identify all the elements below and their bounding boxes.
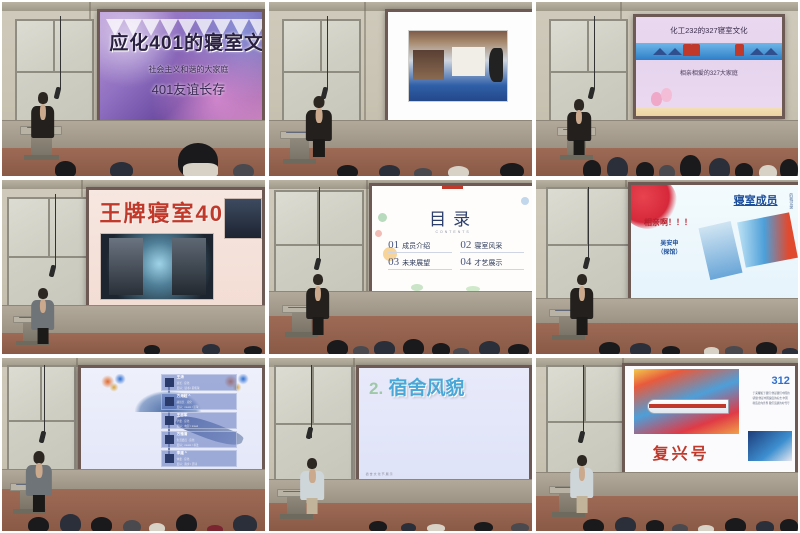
member-hobby: 爱好：电影 / travel: [177, 424, 198, 428]
microphone-wire: [583, 365, 584, 438]
audience-head: [615, 517, 636, 533]
presenter-head: [577, 274, 587, 285]
item-number: 04: [460, 256, 471, 268]
projection-screen: 王牌寝室407: [86, 187, 265, 312]
slide-footer: 宿舍文化节展示: [366, 472, 394, 476]
presenter-face: [309, 469, 315, 483]
projection-screen: 应化401的寝室文化 社会主义和谐的大家庭 401友谊长存: [97, 9, 265, 127]
slide-title: 寝室成员: [734, 192, 778, 208]
collage-panel-2[interactable]: 宿舍风貌展示: [267, 0, 534, 178]
audience-head: [448, 166, 469, 178]
audience-head: [500, 163, 524, 178]
slide-contents: 目录 CONTENTS 01 成员介绍 02 寝室风采 03 未来展望: [372, 186, 534, 295]
member-hobby: 爱好：读书 / 羽毛球: [177, 386, 200, 390]
slide-galaxy: 应化401的寝室文化 社会主义和谐的大家庭 401友谊长存: [100, 12, 262, 124]
slide-subtitle: 相亲相爱的327大家庭: [636, 68, 782, 77]
member-role: 体委 · 应化: [177, 457, 197, 461]
accent-bar: [442, 186, 463, 189]
audience-head: [756, 521, 774, 533]
house-icon: [668, 48, 682, 55]
train-artwork: [634, 369, 739, 434]
audience-head: [636, 162, 654, 178]
projection-screen: 王涛 班长 · 应化 爱好：读书 / 羽毛球 方海超 ^ 副班长 · 应化 爱好…: [78, 365, 265, 476]
slide-members: 寝室成员 相亲啊！！！ 吴安申 （探馆） 的我记录: [631, 185, 798, 301]
slide-title: 王牌寝室407: [100, 196, 239, 228]
slide-side-note: 的我记录: [788, 193, 794, 209]
audience-head: [144, 345, 160, 355]
item-label: 未来展望: [402, 258, 430, 268]
audience-head: [479, 341, 500, 356]
member-photo: [699, 221, 744, 280]
collage-panel-3[interactable]: 化工232的327寝室文化 相亲相爱的327大家庭: [534, 0, 800, 178]
member-hobby: 爱好：跑步 / 足球: [177, 462, 197, 466]
microphone-wire: [327, 16, 328, 89]
avatar: [165, 397, 174, 406]
slide-number: 2.: [369, 379, 383, 398]
slide-subtitle: CONTENTS: [372, 230, 534, 234]
red-flag-icon: [735, 44, 744, 56]
red-flag-icon: [683, 44, 692, 56]
contents-item: 03 未来展望: [388, 256, 452, 270]
collage-panel-5[interactable]: 目录 CONTENTS 01 成员介绍 02 寝室风采 03 未来展望: [267, 178, 534, 356]
microphone-wire: [594, 16, 595, 89]
slide-title-row: 2. 宿舍风貌: [369, 373, 464, 400]
presenter-face: [315, 286, 321, 301]
slide-body-text: 于荣耀属于我们 他是我们中国的骄傲 他是中国速度的标志 中国制造走向世界 我们追…: [753, 392, 790, 407]
audience-head: [759, 165, 777, 178]
audience-head: [403, 339, 424, 356]
member-role: 副班长 · 应化: [177, 400, 199, 404]
item-number: 03: [388, 256, 399, 268]
audience-head: [337, 165, 358, 178]
member-name: 方雅清: [177, 432, 199, 437]
audience-head: [176, 514, 197, 533]
audience-head: [244, 346, 262, 355]
presenter-face: [579, 286, 585, 301]
presenter-head: [307, 458, 317, 469]
slide-tagline: 401友谊长存: [152, 79, 226, 98]
member-name-note: （探馆）: [657, 250, 681, 256]
presenter: [26, 451, 52, 496]
collage-panel-8[interactable]: 2. 宿舍风貌 宿舍文化节展示: [267, 356, 534, 533]
presenter-head: [574, 99, 584, 110]
member-role: 班长 · 应化: [177, 381, 200, 385]
avatar: [165, 454, 174, 463]
slide-dorm-style: 2. 宿舍风貌 宿舍文化节展示: [359, 368, 529, 480]
pinboard: [452, 47, 485, 76]
whiteboard: [15, 19, 94, 127]
audience-head: [725, 518, 746, 533]
audience-head: [28, 517, 49, 533]
member-name: 王志军: [177, 413, 198, 418]
audience-head: [780, 159, 798, 178]
audience-head: [327, 340, 348, 356]
slide-407: 王牌寝室407: [89, 190, 262, 309]
presenter: [306, 96, 332, 141]
corridor-photo: [100, 233, 214, 300]
group-photo: [224, 198, 262, 239]
audience-head: [599, 342, 620, 356]
avatar: [165, 435, 174, 444]
room-number: 312: [772, 375, 790, 387]
audience-head: [91, 517, 112, 533]
item-label: 寝室风采: [474, 241, 502, 251]
presenter-face: [579, 466, 585, 481]
sand-strip: [636, 107, 782, 116]
member-row: 王涛 班长 · 应化 爱好：读书 / 羽毛球: [161, 374, 237, 391]
collage-panel-4[interactable]: 王牌寝室407: [0, 178, 267, 356]
collage-panel-6[interactable]: 寝室成员 相亲啊！！！ 吴安申 （探馆） 的我记录: [534, 178, 800, 356]
item-label: 才艺展示: [474, 258, 502, 268]
collage-panel-9[interactable]: 复兴号 312 于荣耀属于我们 他是我们中国的骄傲 他是中国速度的标志 中国制造…: [534, 356, 800, 533]
member-hobby: 爱好：music / 篮球: [177, 405, 199, 409]
audience: [536, 500, 798, 531]
avatar: [165, 416, 174, 425]
train-photo-thumbnail: [748, 431, 792, 461]
item-number: 01: [388, 239, 399, 251]
audience-head: [149, 523, 165, 533]
member-role: 学委 · 应化: [177, 419, 198, 423]
presenter-face: [40, 104, 46, 119]
presenter: [570, 455, 594, 498]
red-flag-icon: [691, 44, 700, 56]
contents-list: 01 成员介绍 02 寝室风采 03 未来展望 04 才艺展示: [388, 239, 524, 267]
audience-head: [183, 163, 217, 178]
projection-screen: 目录 CONTENTS 01 成员介绍 02 寝室风采 03 未来展望: [369, 183, 534, 298]
member-name-text: 吴安申: [660, 241, 678, 247]
house-icon: [750, 48, 764, 55]
audience-head: [735, 163, 753, 178]
collage-panel-7[interactable]: 王涛 班长 · 应化 爱好：读书 / 羽毛球 方海超 ^ 副班长 · 应化 爱好…: [0, 356, 267, 533]
member-name: 吴安申 （探馆）: [657, 240, 681, 258]
audience-head: [369, 521, 387, 533]
audience-head: [680, 155, 701, 178]
audience-head: [698, 525, 714, 533]
audience-head: [725, 346, 743, 355]
train-stripe: [649, 404, 727, 408]
audience: [536, 326, 798, 354]
audience-head: [453, 348, 469, 356]
audience-head: [659, 165, 675, 178]
balloon-icon: [661, 88, 672, 102]
audience-head: [583, 160, 601, 178]
slide-title: 目录: [372, 205, 534, 230]
microphone-wire: [44, 365, 45, 438]
item-number: 02: [460, 239, 471, 251]
audience-head: [233, 164, 254, 178]
audience-head: [123, 520, 141, 533]
audience-head: [60, 514, 81, 533]
audience-head: [583, 519, 604, 533]
audience-head: [401, 523, 417, 533]
member-row: 王志军 学委 · 应化 爱好：电影 / travel: [161, 412, 237, 429]
slide-dorm-photo: 宿舍风貌展示: [388, 12, 534, 128]
slide-subtitle: 社会主义和谐的大家庭: [148, 64, 228, 75]
avatar: [165, 378, 174, 387]
slide-title: 复兴号: [653, 440, 710, 464]
audience-head: [427, 524, 445, 532]
audience: [2, 493, 265, 531]
audience-head: [782, 348, 798, 356]
projection-screen: 寝室成员 相亲啊！！！ 吴安申 （探馆） 的我记录: [628, 182, 800, 304]
audience: [269, 138, 532, 176]
balloon-icon: [651, 92, 662, 106]
presenter: [306, 274, 330, 319]
presenter: [301, 458, 325, 500]
audience: [2, 333, 265, 354]
audience-head: [374, 341, 395, 356]
slide-title: 化工232的327寝室文化: [636, 25, 782, 36]
microphone-wire: [588, 187, 589, 260]
audience-head: [414, 168, 432, 178]
contents-item: 02 寝室风采: [460, 239, 524, 253]
presenter-head: [38, 288, 48, 299]
member-name: 王涛: [177, 375, 200, 380]
microphone-wire: [55, 194, 56, 267]
slide-train: 复兴号 312 于荣耀属于我们 他是我们中国的骄傲 他是中国速度的标志 中国制造…: [625, 366, 795, 474]
audience-head: [756, 342, 777, 355]
presenter-head: [313, 96, 324, 108]
audience: [2, 138, 265, 176]
audience-head: [508, 344, 529, 356]
audience-head: [607, 157, 628, 178]
microphone-wire: [60, 16, 61, 89]
presenter-face: [40, 299, 46, 313]
audience: [269, 507, 532, 531]
audience: [269, 319, 532, 354]
member-row: 李建 ^ 体委 · 应化 爱好：跑步 / 足球: [161, 450, 237, 467]
hanging-bag: [489, 48, 503, 81]
audience-head: [709, 158, 730, 178]
presenter: [570, 274, 594, 319]
confetti-decoration: [96, 374, 136, 393]
audience-head: [474, 522, 492, 533]
audience-head: [662, 346, 680, 356]
audience-head: [704, 347, 720, 355]
slide-title: 宿舍风貌: [388, 378, 464, 399]
collage-panel-1[interactable]: 应化401的寝室文化 社会主义和谐的大家庭 401友谊长存: [0, 0, 267, 178]
member-name: 方海超 ^: [177, 394, 199, 399]
member-row: 方雅清 生活委员 · 应化 爱好：music / 书法: [161, 431, 237, 448]
presenter-face: [316, 108, 323, 123]
projection-screen: 化工232的327寝室文化 相亲相爱的327大家庭: [633, 14, 785, 118]
audience-head: [110, 162, 134, 178]
presenter-head: [313, 274, 323, 285]
contents-item: 01 成员介绍: [388, 239, 452, 253]
member-photo: [737, 212, 798, 268]
audience-head: [55, 161, 76, 178]
slide-title: 应化401的寝室文化: [109, 28, 262, 55]
presenter-head: [577, 455, 587, 466]
audience-head: [207, 525, 223, 533]
projection-screen: 复兴号 312 于荣耀属于我们 他是我们中国的骄傲 他是中国速度的标志 中国制造…: [622, 363, 798, 477]
photo-collage: 应化401的寝室文化 社会主义和谐的大家庭 401友谊长存: [0, 0, 800, 533]
audience-head: [780, 519, 798, 533]
audience-head: [202, 344, 220, 356]
audience-head: [353, 346, 369, 356]
slide-exclaim: 相亲啊！！！: [644, 217, 692, 228]
presenter: [31, 288, 55, 330]
member-hobby: 爱好：music / 书法: [177, 443, 199, 447]
audience-head: [233, 515, 257, 533]
member-list: 王涛 班长 · 应化 爱好：读书 / 羽毛球 方海超 ^ 副班长 · 应化 爱好…: [161, 374, 237, 466]
slide-roster: 王涛 班长 · 应化 爱好：读书 / 羽毛球 方海超 ^ 副班长 · 应化 爱好…: [81, 368, 262, 473]
house-icon: [653, 48, 667, 55]
house-icon: [764, 48, 778, 55]
member-role: 生活委员 · 应化: [177, 438, 199, 442]
audience: [536, 120, 798, 176]
audience-head: [432, 343, 450, 356]
audience-head: [630, 343, 651, 355]
presenter-head: [33, 451, 44, 463]
member-row: 方海超 ^ 副班长 · 应化 爱好：music / 篮球: [161, 393, 237, 410]
ceiling-beam: [536, 2, 798, 11]
presenter-head: [38, 92, 48, 103]
microphone-wire: [319, 187, 320, 260]
audience-head: [379, 165, 400, 178]
audience-head: [511, 523, 529, 532]
member-name: 李建 ^: [177, 451, 197, 456]
audience-head: [646, 520, 664, 532]
dorm-photo: [408, 30, 508, 102]
item-label: 成员介绍: [402, 241, 430, 251]
contents-item: 04 才艺展示: [460, 256, 524, 270]
slide-village: 化工232的327寝室文化 相亲相爱的327大家庭: [636, 17, 782, 115]
projection-screen: 2. 宿舍风貌 宿舍文化节展示: [356, 365, 532, 483]
projection-screen: 宿舍风貌展示: [385, 9, 534, 131]
presenter: [31, 92, 55, 137]
shelf: [413, 50, 444, 81]
audience-head: [672, 524, 688, 533]
presenter-face: [35, 463, 42, 478]
decor-leaf: [411, 284, 423, 291]
